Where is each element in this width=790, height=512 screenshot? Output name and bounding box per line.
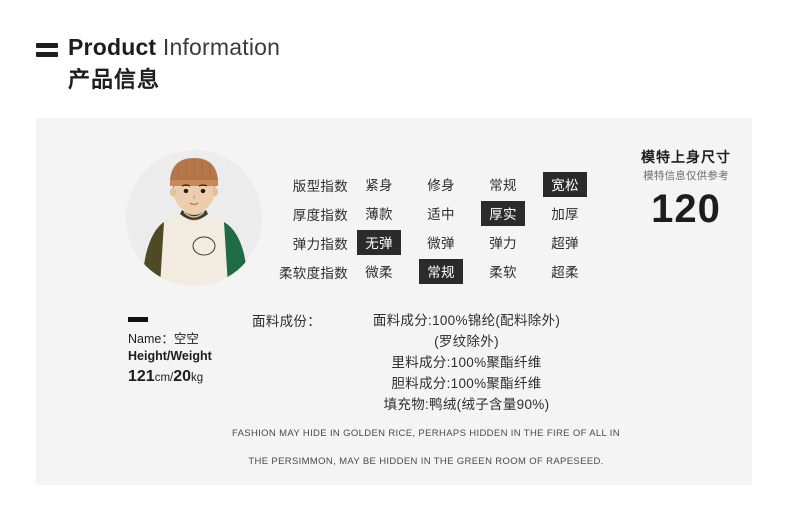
- model-weight-value: 20: [173, 368, 191, 385]
- attribute-option[interactable]: 柔软: [472, 259, 534, 284]
- attribute-row-thickness: 厚度指数 薄款 适中 厚实 加厚: [252, 199, 596, 228]
- attribute-option[interactable]: 修身: [410, 172, 472, 197]
- attribute-options: 薄款 适中 厚实 加厚: [348, 201, 596, 226]
- attribute-option-text: 常规: [419, 259, 463, 284]
- model-size-value: 120: [622, 187, 750, 231]
- footer-line: FASHION MAY HIDE IN GOLDEN RICE, PERHAPS…: [216, 420, 636, 448]
- attribute-option-text: 微柔: [357, 259, 401, 284]
- attribute-option[interactable]: 适中: [410, 201, 472, 226]
- fabric-line: (罗纹除外): [321, 331, 612, 352]
- attribute-option-text: 超柔: [543, 259, 587, 284]
- attribute-option[interactable]: 常规: [472, 172, 534, 197]
- model-size-box: 模特上身尺寸 模特信息仅供参考 120: [622, 148, 750, 231]
- page-title-bold: Product: [68, 34, 156, 60]
- attribute-options: 微柔 常规 柔软 超柔: [348, 259, 596, 284]
- attribute-option-selected[interactable]: 无弹: [348, 230, 410, 255]
- attribute-option[interactable]: 超弹: [534, 230, 596, 255]
- fabric-composition: 面料成份： 面料成分:100%锦纶(配料除外) (罗纹除外) 里料成分:100%…: [252, 310, 612, 415]
- attribute-option[interactable]: 微柔: [348, 259, 410, 284]
- attribute-grid: 版型指数 紧身 修身 常规 宽松 厚度指数 薄款 适中 厚实 加厚 弹力指数 无…: [252, 170, 596, 286]
- attribute-option-text: 宽松: [543, 172, 587, 197]
- footer-tagline: FASHION MAY HIDE IN GOLDEN RICE, PERHAPS…: [216, 420, 636, 476]
- attribute-option-text: 超弹: [543, 230, 587, 255]
- page-title-rest: Information: [156, 34, 280, 60]
- attribute-option-text: 修身: [419, 172, 463, 197]
- attribute-label: 柔软度指数: [252, 262, 348, 282]
- fabric-line: 里料成分:100%聚酯纤维: [321, 352, 612, 373]
- attribute-label: 厚度指数: [252, 204, 348, 224]
- model-size-subtitle: 模特信息仅供参考: [622, 169, 750, 183]
- page-title: Product Information: [68, 34, 280, 60]
- model-height-unit: cm: [155, 372, 170, 384]
- attribute-option-text: 紧身: [357, 172, 401, 197]
- model-size-title: 模特上身尺寸: [622, 148, 750, 166]
- model-divider-dash: [128, 317, 148, 322]
- model-height-value: 121: [128, 368, 155, 385]
- attribute-option[interactable]: 加厚: [534, 201, 596, 226]
- model-name-label: Name：: [128, 332, 174, 346]
- fabric-line: 填充物:鸭绒(绒子含量90%): [321, 394, 612, 415]
- fabric-label: 面料成份：: [252, 310, 321, 332]
- attribute-option-selected[interactable]: 常规: [410, 259, 472, 284]
- attribute-label: 版型指数: [252, 175, 348, 195]
- hamburger-icon: [36, 43, 58, 61]
- attribute-option[interactable]: 弹力: [472, 230, 534, 255]
- attribute-option-text: 厚实: [481, 201, 525, 226]
- attribute-option[interactable]: 薄款: [348, 201, 410, 226]
- attribute-option-text: 薄款: [357, 201, 401, 226]
- fabric-line: 胆料成分:100%聚酯纤维: [321, 373, 612, 394]
- model-name-value: 空空: [174, 332, 199, 346]
- attribute-option-text: 适中: [419, 201, 463, 226]
- attribute-option-selected[interactable]: 厚实: [472, 201, 534, 226]
- attribute-option-text: 微弹: [419, 230, 463, 255]
- attribute-row-fit: 版型指数 紧身 修身 常规 宽松: [252, 170, 596, 199]
- attribute-option-selected[interactable]: 宽松: [534, 172, 596, 197]
- attribute-option-text: 加厚: [543, 201, 587, 226]
- attribute-option-text: 弹力: [481, 230, 525, 255]
- fabric-lines: 面料成分:100%锦纶(配料除外) (罗纹除外) 里料成分:100%聚酯纤维 胆…: [321, 310, 612, 415]
- attribute-options: 无弹 微弹 弹力 超弹: [348, 230, 596, 255]
- product-info-panel: Name：空空 Height/Weight 121cm/20kg 版型指数 紧身…: [36, 118, 752, 485]
- attribute-option-text: 常规: [481, 172, 525, 197]
- attribute-option[interactable]: 紧身: [348, 172, 410, 197]
- attribute-row-softness: 柔软度指数 微柔 常规 柔软 超柔: [252, 257, 596, 286]
- child-model-illustration: [126, 150, 262, 286]
- model-weight-unit: kg: [191, 372, 203, 384]
- attribute-options: 紧身 修身 常规 宽松: [348, 172, 596, 197]
- page-header: Product Information 产品信息: [36, 34, 436, 93]
- fabric-line: 面料成分:100%锦纶(配料除外): [321, 310, 612, 331]
- attribute-option-text: 柔软: [481, 259, 525, 284]
- attribute-option[interactable]: 微弹: [410, 230, 472, 255]
- footer-line: THE PERSIMMON, MAY BE HIDDEN IN THE GREE…: [216, 448, 636, 476]
- header-title-row: Product Information: [36, 34, 436, 61]
- attribute-option-text: 无弹: [357, 230, 401, 255]
- attribute-label: 弹力指数: [252, 233, 348, 253]
- page-subtitle-cn: 产品信息: [68, 67, 436, 93]
- attribute-row-elasticity: 弹力指数 无弹 微弹 弹力 超弹: [252, 228, 596, 257]
- attribute-option[interactable]: 超柔: [534, 259, 596, 284]
- model-photo: [126, 150, 262, 286]
